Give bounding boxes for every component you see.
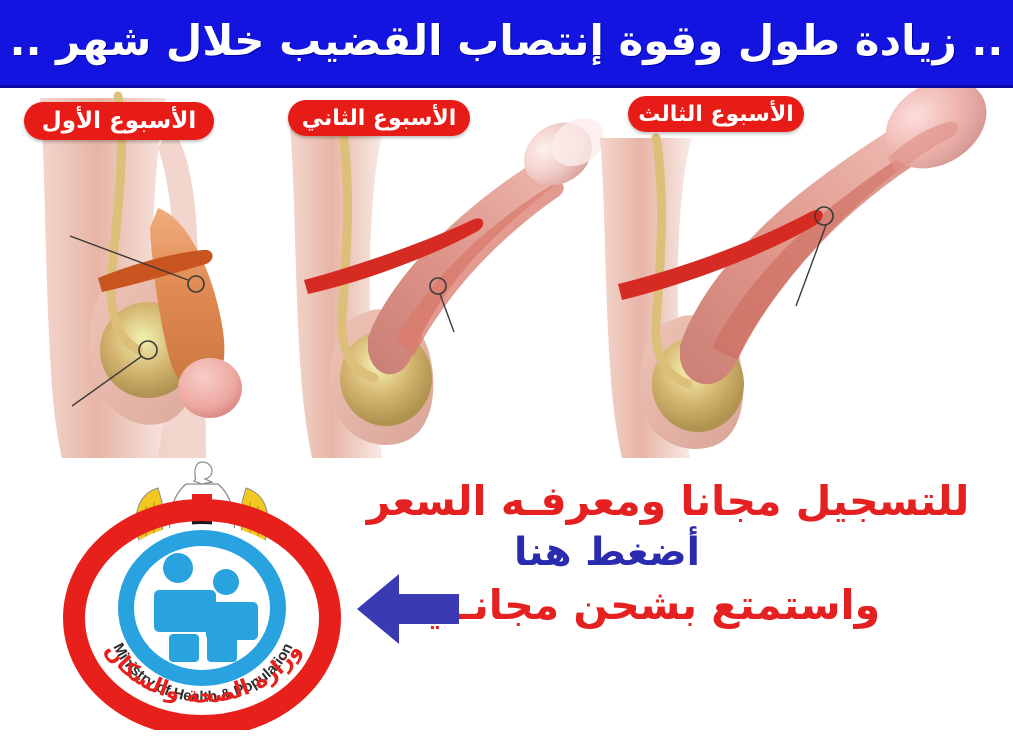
week-three-badge: الأسبوع الثالث: [628, 96, 804, 132]
ministry-logo-graphic: جمهورية مصر العربية: [62, 450, 352, 730]
header-title: .. زيادة طول وقوة إنتصاب القضيب خلال شهر…: [10, 20, 1004, 66]
illustration-panel-week-one: [0, 88, 320, 458]
call-to-action-block[interactable]: للتسجيل مجانا ومعرفـه السعر أضغط هنا واس…: [343, 478, 1003, 629]
left-arrow-icon[interactable]: [355, 572, 465, 646]
week-two-badge: الأسبوع الثاني: [288, 100, 470, 136]
cta-line-click-here[interactable]: أضغط هنا: [343, 531, 1003, 576]
anatomy-diagram-week-two: [290, 88, 620, 458]
week-three-badge-label: الأسبوع الثالث: [638, 102, 794, 127]
header-banner: .. زيادة طول وقوة إنتصاب القضيب خلال شهر…: [0, 0, 1013, 88]
illustration-strip: الأسبوع الأول الأسبوع الثاني الأسبوع الث…: [0, 88, 1013, 458]
week-two-badge-label: الأسبوع الثاني: [302, 106, 457, 131]
anatomy-diagram-week-three: [600, 88, 1013, 458]
ad-banner-root: .. زيادة طول وقوة إنتصاب القضيب خلال شهر…: [0, 0, 1013, 736]
glans-shape: [178, 358, 242, 418]
week-one-badge-label: الأسبوع الأول: [42, 108, 196, 134]
ministry-of-health-logo: جمهورية مصر العربية: [62, 450, 352, 730]
illustration-panel-week-two: [290, 88, 620, 458]
anatomy-diagram-week-one: [0, 88, 320, 458]
arrow-polygon[interactable]: [357, 574, 459, 644]
illustration-panel-week-three: [600, 88, 1013, 458]
left-arrow-glyph[interactable]: [355, 572, 465, 646]
cta-line-register-free: للتسجيل مجانا ومعرفـه السعر: [343, 478, 1003, 525]
bottom-section: جمهورية مصر العربية: [0, 458, 1013, 736]
week-one-badge: الأسبوع الأول: [24, 102, 214, 140]
